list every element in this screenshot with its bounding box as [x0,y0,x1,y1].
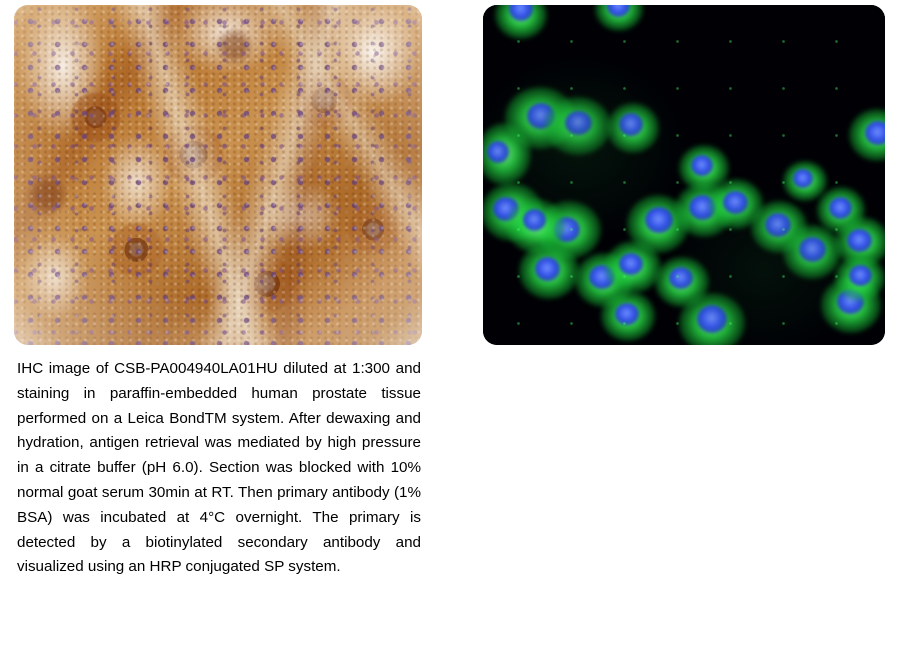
ihc-panel: IHC image of CSB-PA004940LA01HU diluted … [0,0,440,345]
if-speckle-layer [483,5,885,345]
immunofluorescence-micrograph [483,5,885,345]
ihc-micrograph [14,5,422,345]
if-panel: Immunofluorescence staining of Hela cell… [470,0,903,345]
ihc-vignette-layer [14,5,422,345]
ihc-caption: IHC image of CSB-PA004940LA01HU diluted … [17,357,421,580]
